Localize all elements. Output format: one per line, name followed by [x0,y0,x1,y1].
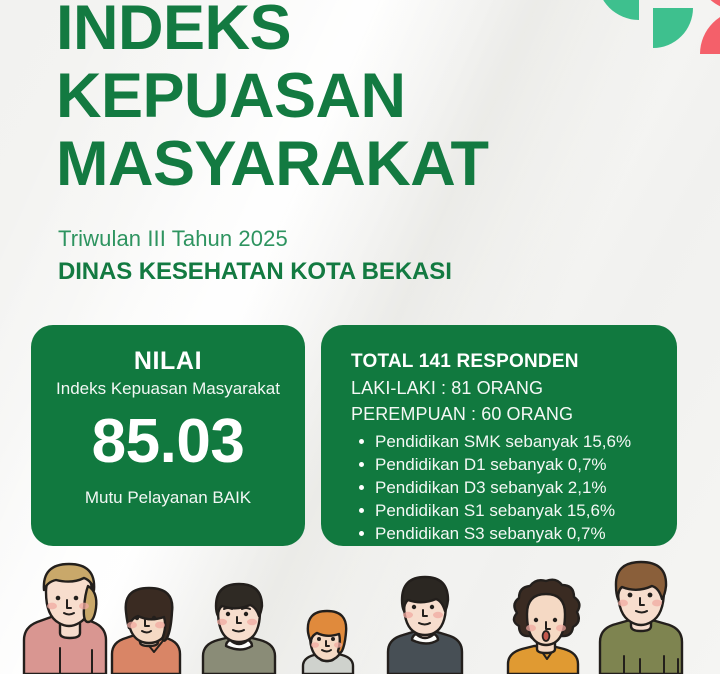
person-dark-hair-navy [388,577,462,674]
score-caption: Indeks Kepuasan Masyarakat [56,377,280,401]
respondent-total: TOTAL 141 RESPONDEN [351,349,659,375]
person-short-dark-hair [203,584,275,674]
list-item: Pendidikan D1 sebanyak 0,7% [351,453,659,476]
person-blonde-ponytail [24,564,106,674]
score-value: 85.03 [92,409,245,475]
person-orange-hair-child [303,611,353,674]
group-of-people-illustration: .ol { stroke:#231f1c; stroke-width:2.4; … [0,556,720,674]
list-item: Pendidikan S1 sebanyak 15,6% [351,499,659,522]
petal-red-icon [697,0,720,10]
person-dark-bob [112,588,180,674]
poster-canvas: INDEKS KEPUASAN MASYARAKAT Triwulan III … [0,0,720,674]
score-heading: NILAI [134,347,202,375]
list-item: Pendidikan S3 sebanyak 0,7% [351,522,659,545]
respondent-female: PEREMPUAN : 60 ORANG [351,401,659,427]
education-list: Pendidikan SMK sebanyak 15,6% Pendidikan… [351,430,659,545]
subtitle-period: Triwulan III Tahun 2025 [58,226,288,252]
score-quality-label: Mutu Pelayanan BAIK [85,487,251,509]
person-curly-afro [508,580,579,674]
respondent-card: TOTAL 141 RESPONDEN LAKI-LAKI : 81 ORANG… [321,325,677,546]
list-item: Pendidikan D3 sebanyak 2,1% [351,476,659,499]
list-item: Pendidikan SMK sebanyak 15,6% [351,430,659,453]
title-line-2: KEPUASAN [56,62,676,130]
subtitle-agency: DINAS KESEHATAN KOTA BEKASI [58,258,452,286]
title-line-1: INDEKS [56,0,676,62]
score-card: NILAI Indeks Kepuasan Masyarakat 85.03 M… [31,325,305,546]
petal-red-icon [700,10,720,54]
page-title: INDEKS KEPUASAN MASYARAKAT [56,0,676,198]
person-brown-hair-olive [600,562,682,674]
respondent-male: LAKI-LAKI : 81 ORANG [351,375,659,401]
title-line-3: MASYARAKAT [56,130,676,198]
